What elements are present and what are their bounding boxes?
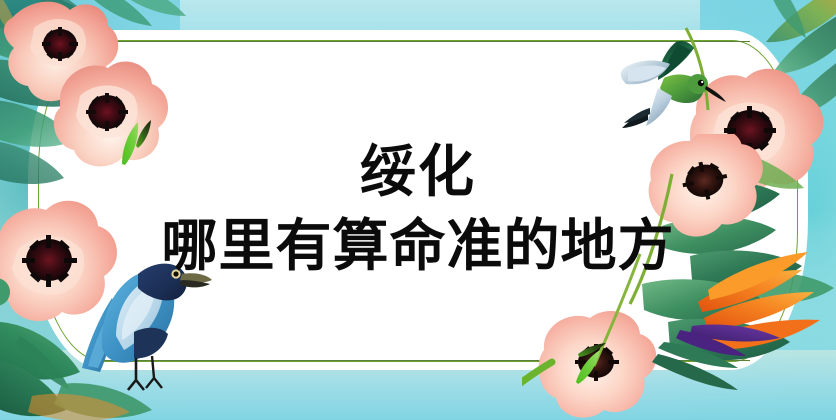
leaf-sprig-lower-right-icon xyxy=(566,334,632,392)
hummingbird-icon xyxy=(614,28,740,138)
decorative-title-banner: 绥化 哪里有算命准的地方 xyxy=(0,0,836,420)
corner-art-bottom-left xyxy=(0,172,272,420)
leaf-sprig-upper-left-icon xyxy=(112,112,178,174)
